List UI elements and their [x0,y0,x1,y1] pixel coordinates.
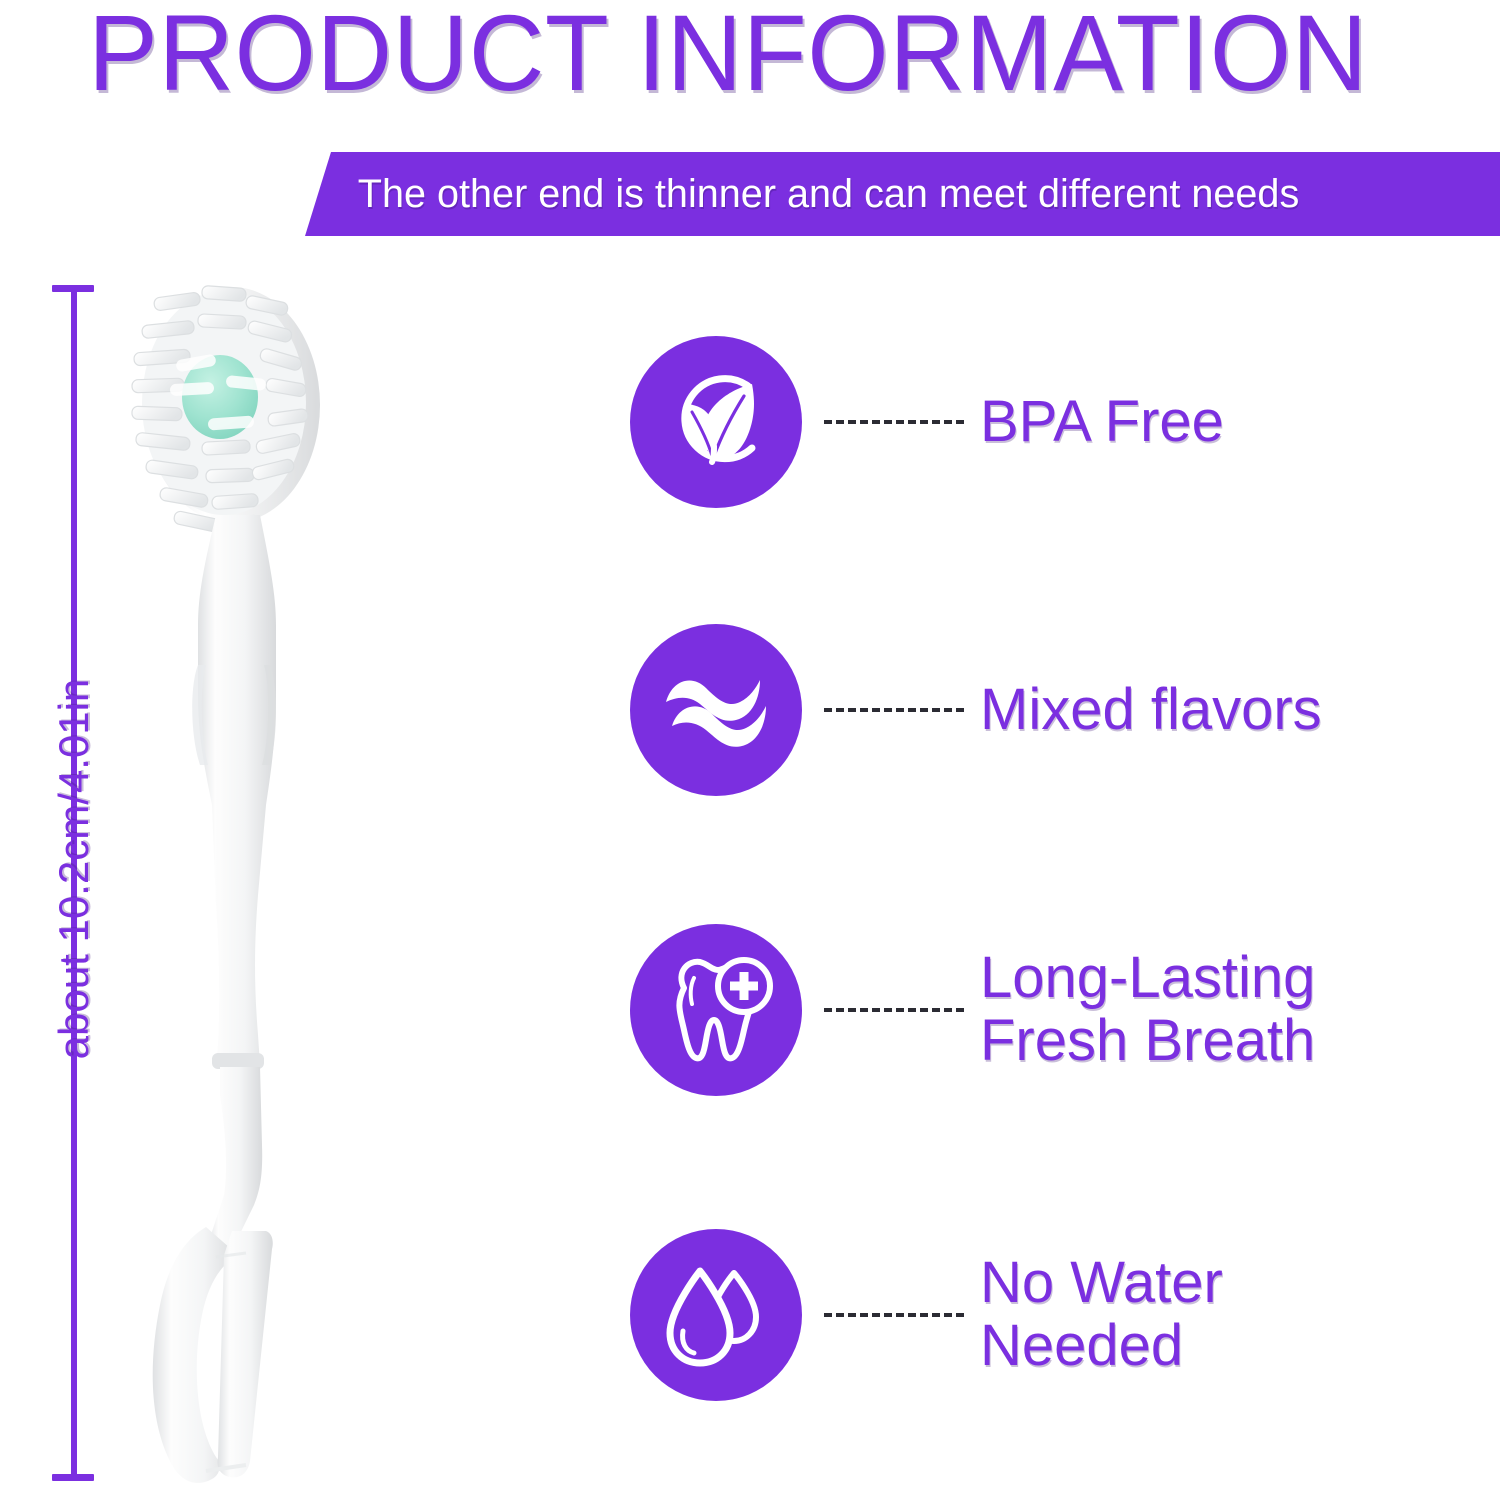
feature-label-mixed-flavors: Mixed flavors [980,679,1500,742]
feature-label-fresh-breath: Long-Lasting Fresh Breath [980,947,1500,1072]
measurement-cap-bottom [52,1474,94,1481]
water-drops-icon [630,1229,802,1401]
feature-row-fresh-breath: Long-Lasting Fresh Breath [630,920,1500,1100]
subtitle-banner-text: The other end is thinner and can meet di… [358,172,1299,217]
product-information-infographic: PRODUCT INFORMATION The other end is thi… [0,0,1500,1489]
tooth-plus-icon [630,924,802,1096]
measurement-ruler: about 10.2cm/4.01in [52,285,112,1481]
measurement-label: about 10.2cm/4.01in [50,459,98,1279]
subtitle-banner: The other end is thinner and can meet di… [305,152,1500,236]
feature-list: BPA Free Mixed flavors [630,320,1500,1460]
feature-connector-line [824,1313,964,1317]
leaf-icon [630,336,802,508]
page-title: PRODUCT INFORMATION [88,0,1368,115]
product-image [120,265,420,1485]
feature-row-no-water: No Water Needed [630,1225,1500,1405]
feature-connector-line [824,708,964,712]
waves-icon [630,624,802,796]
feature-label-no-water: No Water Needed [980,1252,1500,1377]
feature-connector-line [824,1008,964,1012]
feature-row-bpa-free: BPA Free [630,332,1500,512]
feature-row-mixed-flavors: Mixed flavors [630,620,1500,800]
feature-connector-line [824,420,964,424]
feature-label-bpa-free: BPA Free [980,391,1500,454]
